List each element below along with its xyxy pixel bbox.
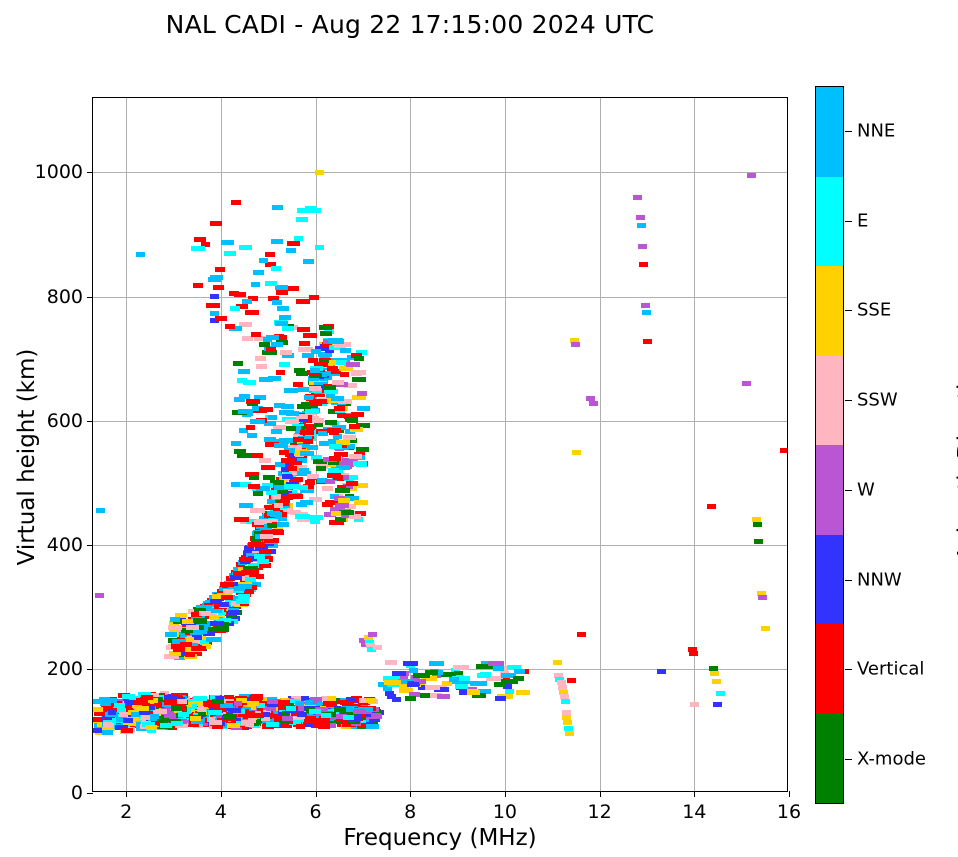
echo-point [186, 625, 199, 630]
echo-point [357, 406, 370, 411]
echo-point [141, 715, 150, 720]
echo-point [180, 642, 192, 647]
echo-point [311, 349, 320, 354]
colorbar-tick [845, 131, 852, 132]
echo-point [268, 415, 277, 420]
echo-point [282, 716, 293, 721]
echo-point [633, 195, 642, 200]
echo-point [260, 534, 273, 539]
echo-point [296, 217, 307, 222]
echo-point [266, 722, 280, 727]
echo-point [286, 706, 296, 711]
echo-point [343, 715, 355, 720]
echo-point [638, 244, 647, 249]
echo-point [689, 651, 698, 656]
echo-point [340, 372, 349, 377]
echo-point [259, 549, 273, 554]
echo-point [223, 714, 237, 719]
echo-point [173, 647, 185, 652]
echo-point [221, 240, 234, 245]
echo-point [281, 458, 296, 463]
echo-point [227, 723, 241, 728]
x-axis-tick-label: 8 [404, 801, 416, 823]
echo-point [199, 611, 211, 616]
echo-point [353, 709, 365, 714]
echo-point [238, 409, 251, 414]
x-axis-tick [410, 791, 411, 797]
echo-point [220, 582, 233, 587]
echo-point [297, 208, 310, 213]
echo-point [429, 661, 444, 666]
echo-point [338, 498, 350, 503]
echo-point [639, 262, 648, 267]
echo-point [277, 306, 289, 311]
echo-point [234, 517, 249, 522]
echo-point [488, 661, 504, 666]
echo-point [303, 259, 314, 264]
echo-point [177, 712, 189, 717]
colorbar-segment-nne [816, 87, 843, 177]
echo-point [335, 488, 350, 493]
echo-point [96, 508, 105, 513]
y-axis-tick [87, 172, 93, 173]
echo-point [305, 716, 316, 721]
echo-point [713, 702, 722, 707]
echo-point [282, 326, 295, 331]
echo-point [215, 267, 225, 272]
echo-point [349, 454, 362, 459]
echo-point [234, 701, 242, 706]
echo-point [266, 347, 276, 352]
colorbar-label-nne: NNE [857, 120, 895, 141]
echo-point [409, 668, 418, 673]
page-title: NAL CADI - Aug 22 17:15:00 2024 UTC [0, 10, 820, 39]
echo-point [251, 332, 261, 337]
echo-point [267, 335, 278, 340]
colorbar-label-vertical: Vertical [857, 659, 924, 680]
echo-point [319, 325, 332, 330]
x-axis-tick-label: 10 [493, 801, 517, 823]
y-axis-tick-label: 600 [47, 410, 83, 432]
echo-point [248, 484, 259, 489]
echo-point [249, 475, 259, 480]
echo-point [259, 458, 271, 463]
echo-point [136, 698, 148, 703]
echo-point [234, 449, 246, 454]
echo-point [271, 429, 282, 434]
echo-point [295, 514, 310, 519]
echo-point [780, 448, 787, 453]
colorbar-tick [845, 490, 852, 491]
echo-point [221, 595, 233, 600]
echo-point [294, 236, 304, 241]
echo-point [513, 676, 523, 681]
echo-point [280, 350, 292, 355]
echo-point [170, 617, 180, 622]
echo-point [272, 530, 284, 535]
echo-point [516, 690, 531, 695]
echo-point [102, 730, 112, 735]
echo-point [286, 411, 299, 416]
echo-point [358, 483, 369, 488]
echo-point [299, 341, 310, 346]
echo-point [493, 666, 504, 671]
echo-point [254, 520, 264, 525]
echo-point [208, 710, 221, 715]
echo-point [637, 223, 646, 228]
colorbar-label-x-mode: X-mode [857, 749, 926, 770]
echo-point [255, 356, 267, 361]
echo-point [754, 539, 763, 544]
colorbar-tick [845, 221, 852, 222]
x-axis-tick-label: 14 [682, 801, 706, 823]
echo-point [276, 370, 286, 375]
echo-point [275, 285, 288, 290]
colorbar-segment-nnw [816, 535, 843, 625]
echo-point [327, 428, 341, 433]
echo-point [286, 426, 296, 431]
echo-point [296, 502, 307, 507]
echo-point [210, 221, 223, 226]
echo-point [231, 441, 241, 446]
echo-point [690, 702, 699, 707]
echo-point [236, 599, 249, 604]
echo-point [392, 697, 401, 702]
echo-point [707, 504, 716, 509]
x-axis-tick-label: 12 [588, 801, 612, 823]
echo-point [136, 252, 145, 257]
colorbar-segment-ssw [816, 356, 843, 446]
echo-point [407, 682, 419, 687]
echo-point [247, 701, 259, 706]
echo-point [256, 542, 265, 547]
echo-point [300, 451, 314, 456]
colorbar-label-nnw: NNW [857, 569, 902, 590]
echo-point [712, 679, 721, 684]
echo-point [514, 669, 524, 674]
echo-point [571, 342, 580, 347]
echo-scatter-layer [93, 98, 787, 791]
echo-point [259, 407, 273, 412]
echo-point [354, 356, 364, 361]
echo-point [121, 728, 133, 733]
echo-point [346, 362, 360, 367]
echo-point [577, 632, 586, 637]
echo-point [250, 508, 265, 513]
colorbar-label-w: W [857, 479, 875, 500]
echo-point [351, 370, 366, 375]
echo-point [259, 258, 268, 263]
echo-point [274, 443, 288, 448]
echo-point [246, 399, 260, 404]
x-axis-tick-label: 6 [309, 801, 321, 823]
colorbar-tick [845, 580, 852, 581]
echo-point [279, 315, 290, 320]
echo-point [373, 645, 382, 650]
echo-point [315, 245, 325, 250]
echo-point [561, 699, 570, 704]
echo-point [315, 170, 324, 175]
echo-point [263, 475, 275, 480]
y-axis-tick-label: 1000 [35, 161, 83, 183]
y-axis-tick-label: 200 [47, 658, 83, 680]
echo-point [589, 401, 598, 406]
colorbar-tick [845, 310, 852, 311]
echo-point [230, 306, 240, 311]
echo-point [324, 385, 336, 390]
echo-point [366, 698, 376, 703]
echo-point [271, 266, 280, 271]
echo-point [208, 627, 222, 632]
echo-point [309, 386, 320, 391]
echo-point [234, 292, 246, 297]
echo-point [331, 396, 343, 401]
echo-point [253, 491, 263, 496]
echo-point [425, 685, 440, 690]
echo-point [336, 360, 347, 365]
x-axis-tick [316, 791, 317, 797]
echo-point [279, 362, 290, 367]
colorbar-segment-sse [816, 266, 843, 356]
echo-point [265, 281, 277, 286]
echo-point [349, 424, 360, 429]
echo-point [316, 466, 325, 471]
echo-point [352, 377, 366, 382]
echo-point [467, 690, 480, 695]
colorbar-label-ssw: SSW [857, 390, 898, 411]
echo-point [274, 503, 283, 508]
echo-point [213, 285, 223, 290]
echo-point [742, 381, 751, 386]
echo-point [278, 700, 290, 705]
echo-point [206, 637, 221, 642]
echo-point [247, 570, 259, 575]
echo-point [553, 660, 562, 665]
echo-point [368, 632, 377, 637]
echo-point [495, 696, 507, 701]
echo-point [219, 602, 229, 607]
echo-point [477, 673, 490, 678]
echo-point [210, 294, 219, 299]
echo-point [384, 680, 401, 685]
echo-point [572, 450, 581, 455]
echo-point [194, 646, 206, 651]
echo-point [716, 691, 725, 696]
x-axis-tick [126, 791, 127, 797]
echo-point [210, 615, 219, 620]
echo-point [425, 670, 438, 675]
echo-point [747, 173, 756, 178]
echo-point [237, 453, 251, 458]
echo-point [234, 397, 245, 402]
echo-point [250, 419, 264, 424]
echo-point [309, 709, 321, 714]
echo-point [197, 707, 206, 712]
echo-point [293, 437, 305, 442]
echo-point [565, 731, 574, 736]
echo-point [563, 720, 572, 725]
echo-point [250, 695, 263, 700]
echo-point [385, 660, 397, 665]
echo-point [239, 245, 252, 250]
echo-point [281, 404, 294, 409]
echo-point [346, 481, 359, 486]
echo-point [233, 361, 244, 366]
echo-point [231, 200, 241, 205]
echo-point [334, 707, 346, 712]
echo-point [95, 593, 104, 598]
echo-point [185, 652, 195, 657]
x-axis-tick [600, 791, 601, 797]
echo-point [310, 519, 320, 524]
echo-point [237, 378, 247, 383]
echo-point [191, 246, 205, 251]
y-axis-tick [87, 793, 93, 794]
echo-point [246, 425, 255, 430]
echo-point [332, 380, 344, 385]
echo-point [171, 706, 182, 711]
y-axis-tick-label: 800 [47, 286, 83, 308]
x-axis-tick [505, 791, 506, 797]
echo-point [146, 725, 157, 730]
echo-point [309, 295, 320, 300]
echo-point [354, 500, 367, 505]
y-axis-tick [87, 669, 93, 670]
echo-point [325, 479, 335, 484]
plot-area: 24681012141602004006008001000 [92, 97, 788, 792]
echo-point [331, 511, 341, 516]
y-axis-tick [87, 545, 93, 546]
echo-point [470, 681, 487, 686]
echo-point [271, 342, 283, 347]
echo-point [288, 494, 303, 499]
echo-point [403, 661, 418, 666]
echo-point [177, 699, 186, 704]
echo-point [307, 445, 318, 450]
echo-point [247, 433, 256, 438]
echo-point [325, 420, 337, 425]
echo-point [303, 333, 317, 338]
echo-point [334, 406, 345, 411]
colorbar-label-e: E [857, 210, 868, 231]
y-axis-tick [87, 297, 93, 298]
echo-point [437, 694, 450, 699]
echo-point [137, 706, 149, 711]
echo-point [272, 205, 283, 210]
echo-point [323, 701, 336, 706]
echo-point [239, 557, 252, 562]
echo-point [308, 358, 318, 363]
echo-point [761, 626, 770, 631]
echo-point [190, 716, 200, 721]
echo-point [312, 418, 324, 423]
echo-point [285, 419, 300, 424]
echo-point [210, 621, 224, 626]
echo-point [349, 514, 362, 519]
echo-point [256, 364, 267, 369]
echo-point [160, 723, 171, 728]
echo-point [330, 339, 344, 344]
x-axis-tick-label: 4 [215, 801, 227, 823]
echo-point [657, 669, 666, 674]
echo-point [353, 461, 367, 466]
echo-point [310, 368, 320, 373]
echo-point [405, 696, 416, 701]
y-axis-tick-label: 0 [71, 782, 83, 804]
y-axis-tick-label: 400 [47, 534, 83, 556]
echo-point [366, 724, 379, 729]
colorbar-segment-vertical [816, 624, 843, 714]
echo-point [212, 594, 221, 599]
echo-point [271, 239, 283, 244]
echo-point [318, 724, 330, 729]
echo-point [296, 299, 310, 304]
x-axis-tick-label: 2 [120, 801, 132, 823]
echo-point [228, 708, 241, 713]
echo-point [254, 554, 264, 559]
echo-point [327, 696, 336, 701]
echo-point [453, 665, 468, 670]
colorbar-label: Azimuth Direction [954, 288, 958, 628]
echo-point [322, 486, 333, 491]
echo-point [277, 522, 289, 527]
echo-point [253, 270, 263, 275]
echo-point [238, 369, 249, 374]
echo-point [228, 610, 240, 615]
echo-point [320, 331, 332, 336]
echo-point [241, 720, 250, 725]
echo-point [209, 720, 222, 725]
echo-point [287, 466, 297, 471]
echo-point [333, 475, 344, 480]
echo-point [212, 699, 225, 704]
echo-point [261, 465, 275, 470]
x-axis-tick [789, 791, 790, 797]
echo-point [225, 324, 235, 329]
colorbar-tick [845, 759, 852, 760]
x-axis-tick-label: 16 [777, 801, 801, 823]
echo-point [284, 484, 299, 489]
echo-point [224, 251, 236, 256]
echo-point [567, 678, 576, 683]
echo-point [264, 437, 275, 442]
echo-point [93, 699, 104, 704]
echo-point [257, 559, 269, 564]
echo-point [300, 430, 315, 435]
azimuth-colorbar [815, 86, 844, 804]
echo-point [354, 412, 364, 417]
echo-point [267, 511, 280, 516]
echo-point [193, 696, 207, 701]
y-axis-label: Virtual height (km) [14, 287, 40, 627]
x-axis-label: Frequency (MHz) [92, 825, 788, 851]
echo-point [206, 303, 220, 308]
echo-point [272, 300, 282, 305]
echo-point [124, 700, 133, 705]
echo-point [286, 248, 295, 253]
echo-point [245, 577, 256, 582]
echo-point [309, 208, 321, 213]
echo-point [339, 465, 350, 470]
echo-point [758, 595, 767, 600]
echo-point [753, 522, 762, 527]
echo-point [193, 618, 208, 623]
echo-point [168, 625, 182, 630]
echo-point [279, 450, 289, 455]
echo-point [293, 382, 303, 387]
echo-point [123, 718, 133, 723]
echo-point [455, 684, 468, 689]
